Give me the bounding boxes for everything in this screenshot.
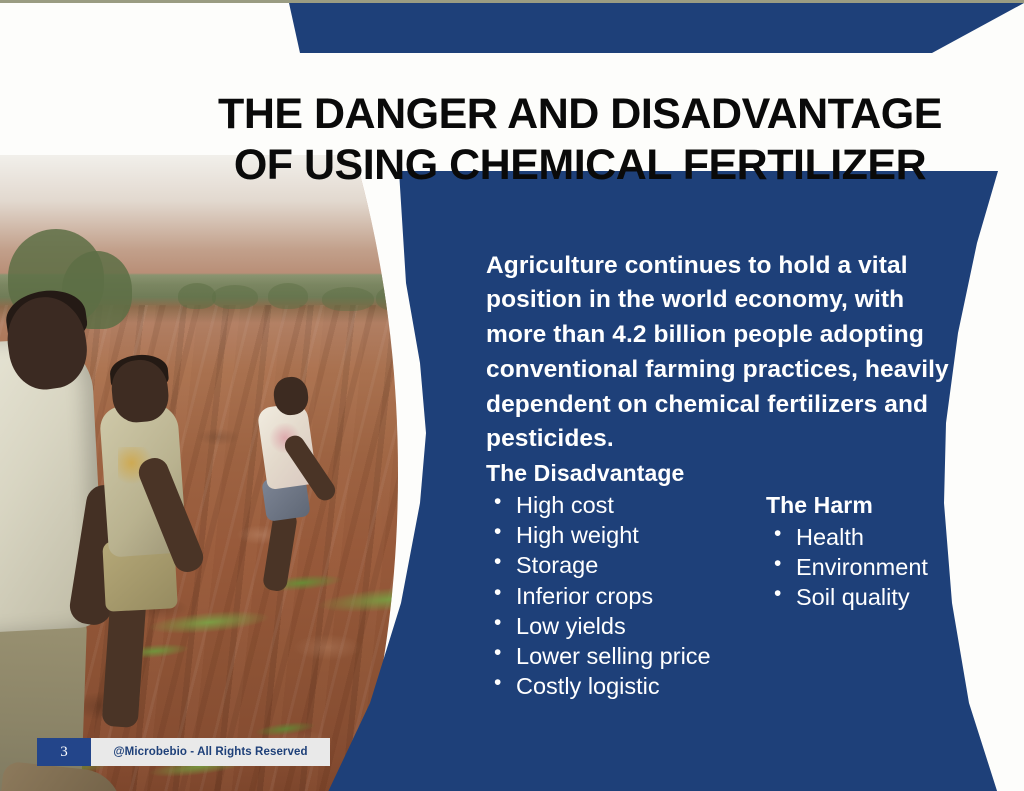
farmers-field-photo xyxy=(0,155,420,791)
page-number-badge: 3 xyxy=(37,738,91,766)
list-item: Low yields xyxy=(492,611,766,641)
list-item: High weight xyxy=(492,520,766,550)
list-item: Costly logistic xyxy=(492,671,766,701)
list-item: Inferior crops xyxy=(492,581,766,611)
tree-icon xyxy=(212,285,258,309)
disadvantage-list: High cost High weight Storage Inferior c… xyxy=(486,490,766,701)
tree-icon xyxy=(322,287,374,311)
top-accent-bar xyxy=(0,3,1024,63)
list-item: Health xyxy=(772,522,996,552)
tree-icon xyxy=(178,283,216,309)
tree-icon xyxy=(268,283,308,309)
list-item: High cost xyxy=(492,490,766,520)
list-item: Storage xyxy=(492,550,766,580)
page-title-line-2: OF USING CHEMICAL FERTILIZER xyxy=(210,140,950,191)
harm-column: The Harm Health Environment Soil quality xyxy=(766,492,996,613)
disadvantage-heading: The Disadvantage xyxy=(486,460,766,487)
slide-footer: 3 @Microbebio - All Rights Reserved xyxy=(37,738,330,766)
page-title: THE DANGER AND DISADVANTAGE OF USING CHE… xyxy=(210,89,950,190)
copyright-notice: @Microbebio - All Rights Reserved xyxy=(91,738,330,766)
list-item: Environment xyxy=(772,552,996,582)
harm-heading: The Harm xyxy=(766,492,996,519)
list-item: Soil quality xyxy=(772,582,996,612)
list-item: Lower selling price xyxy=(492,641,766,671)
lead-paragraph: Agriculture continues to hold a vital po… xyxy=(486,249,956,458)
page-title-line-1: THE DANGER AND DISADVANTAGE xyxy=(210,89,950,140)
harm-list: Health Environment Soil quality xyxy=(766,522,996,613)
slide-root: THE DANGER AND DISADVANTAGE OF USING CHE… xyxy=(0,0,1024,791)
disadvantage-column: The Disadvantage High cost High weight S… xyxy=(486,460,766,701)
